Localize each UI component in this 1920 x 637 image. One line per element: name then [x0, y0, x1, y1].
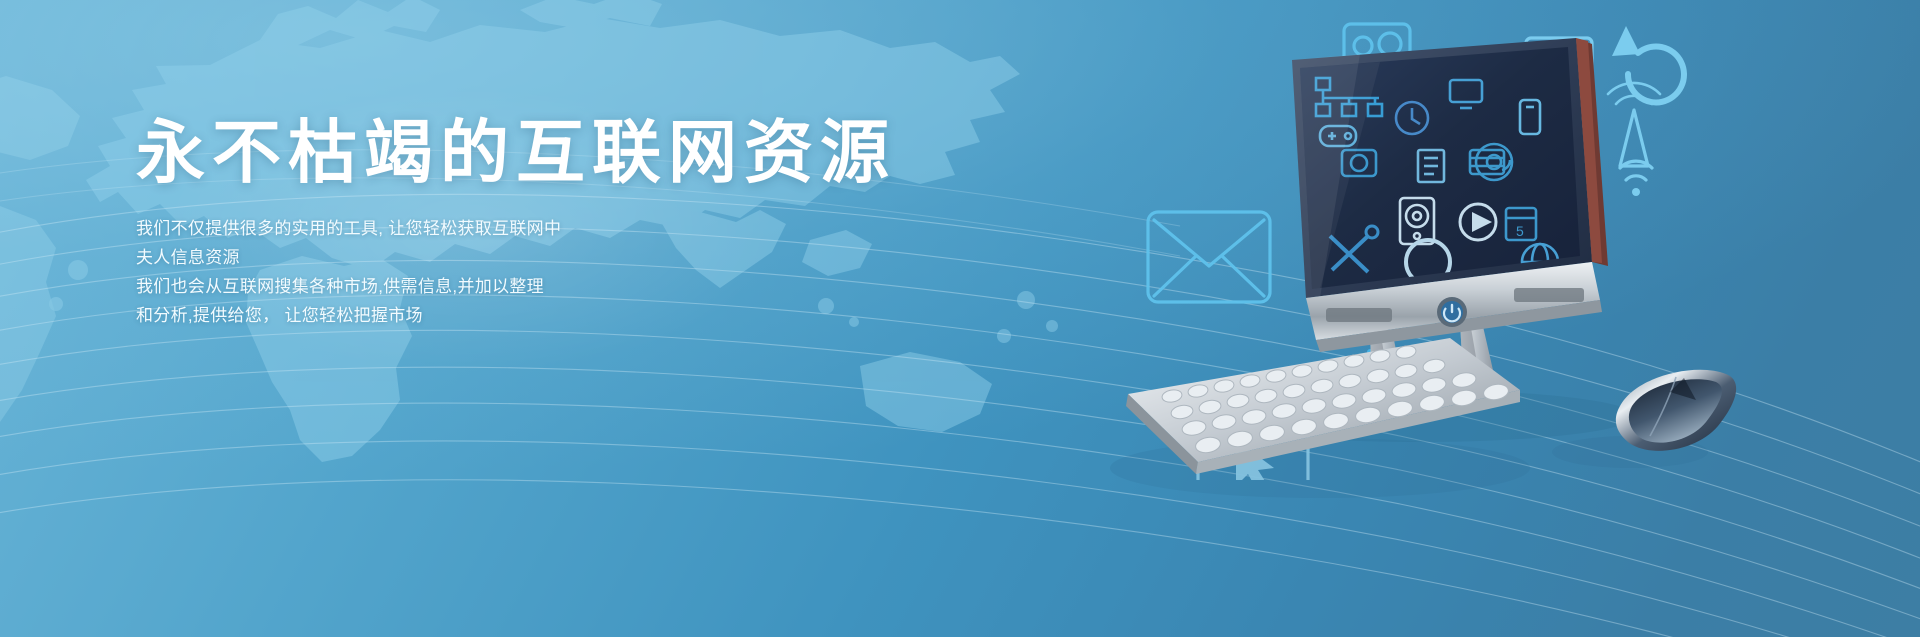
svg-text:5: 5	[1516, 223, 1524, 239]
banner-copy: 永不枯竭的互联网资源 我们不仅提供很多的实用的工具, 让您轻松获取互联网中 夫人…	[136, 118, 896, 330]
power-button[interactable]	[1437, 297, 1467, 327]
hero-artwork: 5	[1020, 0, 1920, 637]
description-line-4: 和分析,提供给您， 让您轻松把握市场	[136, 301, 896, 330]
hero-banner: 永不枯竭的互联网资源 我们不仅提供很多的实用的工具, 让您轻松获取互联网中 夫人…	[0, 0, 1920, 637]
description-line-2: 夫人信息资源	[136, 243, 896, 272]
page-title: 永不枯竭的互联网资源	[136, 118, 896, 188]
computer-illustration: 5	[1020, 0, 1920, 637]
mouse[interactable]	[1616, 370, 1736, 451]
description-line-1: 我们不仅提供很多的实用的工具, 让您轻松获取互联网中	[136, 214, 896, 243]
banner-description: 我们不仅提供很多的实用的工具, 让您轻松获取互联网中 夫人信息资源 我们也会从互…	[136, 214, 896, 330]
description-line-3: 我们也会从互联网搜集各种市场,供需信息,并加以整理	[136, 272, 896, 301]
